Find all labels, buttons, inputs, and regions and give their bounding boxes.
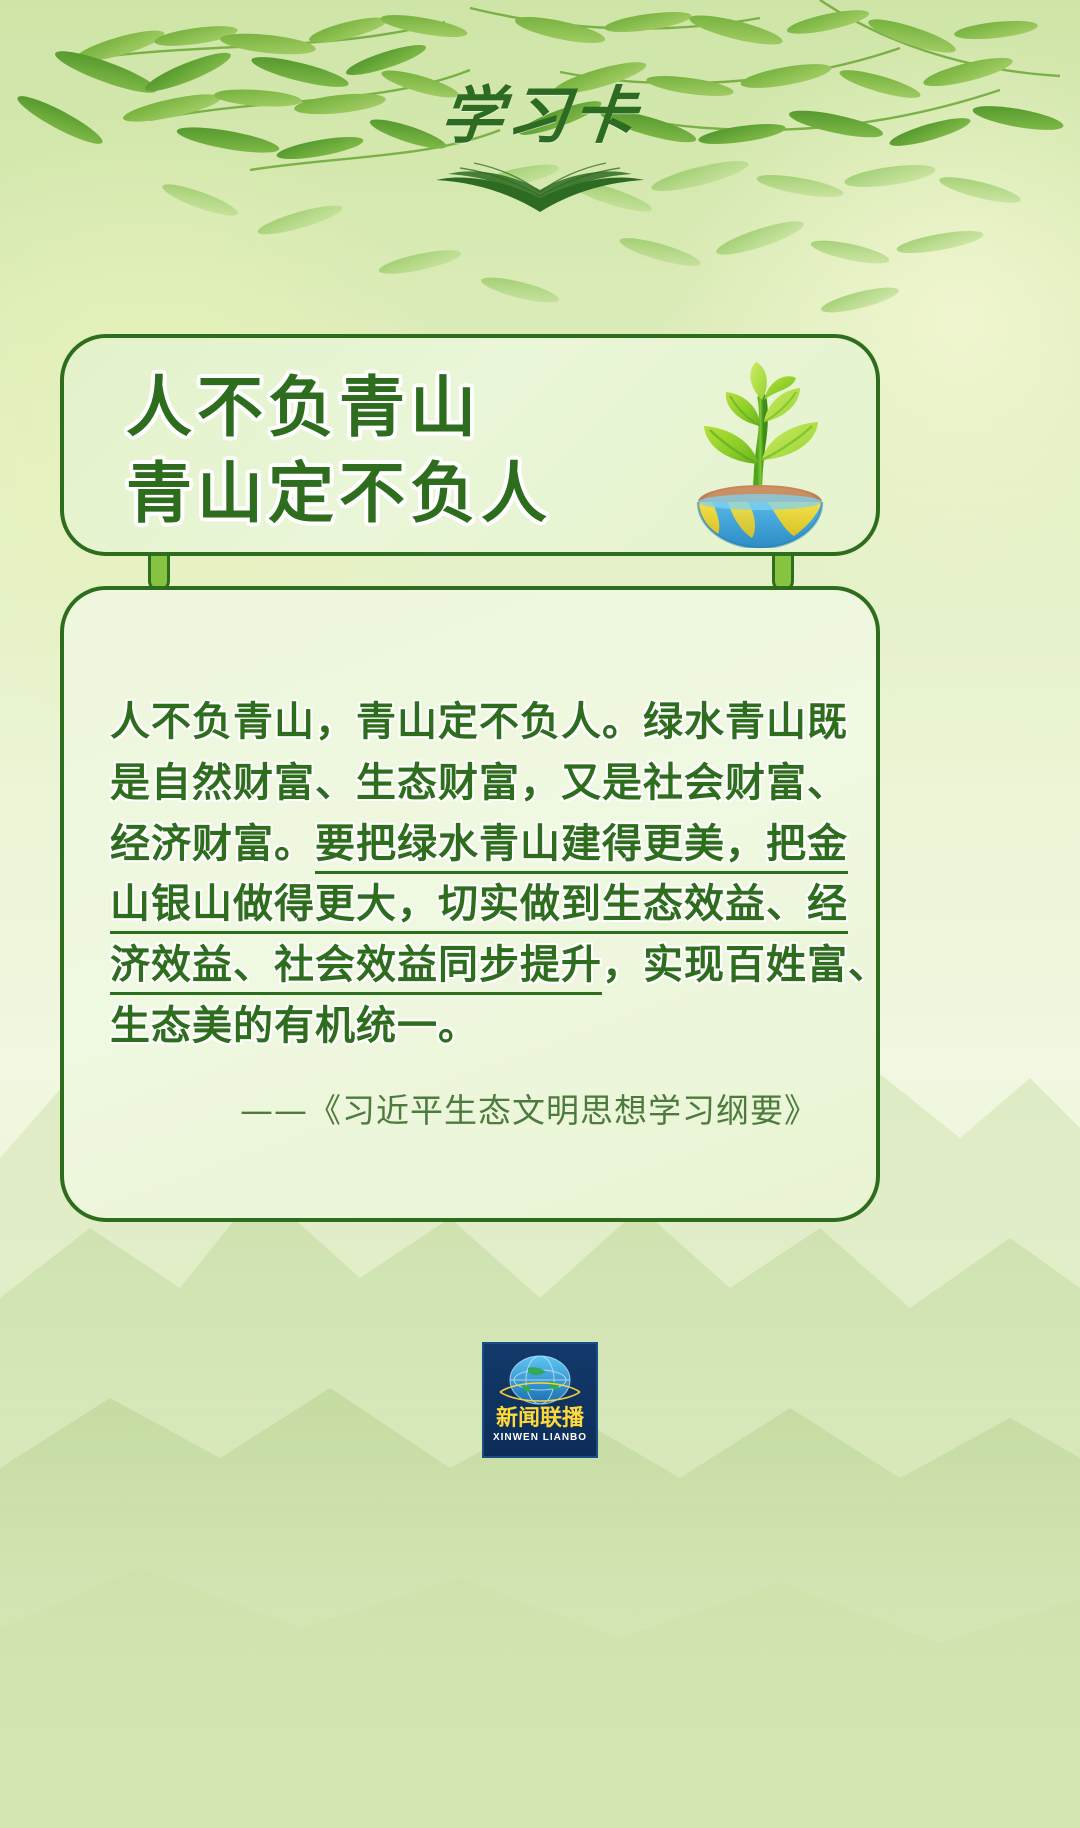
- quote-plain-text: ，实现百姓富、: [602, 942, 880, 988]
- badge-name-en: XINWEN LIANBO: [493, 1432, 587, 1443]
- title-text-block: 人不负青山 青山定不负人: [126, 366, 552, 537]
- quote-line-2: 是自然财富、生态财富，又是社会财富、: [110, 753, 840, 814]
- sapling-in-globe-pot-icon: [672, 352, 852, 548]
- quote-line-4: 山银山做得更大，切实做到生态效益、经: [110, 874, 840, 935]
- quote-attribution: ——《习近平生态文明思想学习纲要》: [64, 1084, 818, 1132]
- title-line-2: 青山定不负人: [126, 452, 552, 536]
- badge-name-cn: 新闻联播: [496, 1407, 584, 1430]
- quote-text-block: 人不负青山，青山定不负人。绿水青山既是自然财富、生态财富，又是社会财富、经济财富…: [110, 692, 840, 1057]
- quote-line-1: 人不负青山，青山定不负人。绿水青山既: [110, 692, 840, 753]
- globe-icon: [492, 1350, 588, 1406]
- quote-plain-text: 生态美的有机统一。: [110, 1003, 479, 1049]
- header-logo: 学习卡: [0, 86, 1080, 236]
- quote-plain-text: 经济财富。: [110, 821, 315, 867]
- quote-plain-text: 人不负青山，青山定不负人。绿水青山既: [110, 699, 848, 745]
- study-card-logo-text: 学习卡: [438, 86, 643, 148]
- title-card: 人不负青山 青山定不负人: [60, 334, 880, 556]
- quote-line-3: 经济财富。要把绿水青山建得更美，把金: [110, 814, 840, 875]
- title-line-1: 人不负青山: [126, 366, 552, 450]
- quote-line-5: 济效益、社会效益同步提升，实现百姓富、: [110, 935, 840, 996]
- xinwen-lianbo-badge: 新闻联播 XINWEN LIANBO: [482, 1342, 598, 1458]
- quote-line-6: 生态美的有机统一。: [110, 996, 840, 1057]
- quote-emphasis-text: 山银山做得更大，切实做到生态效益、经: [110, 881, 848, 934]
- quote-emphasis-text: 要把绿水青山建得更美，把金: [315, 821, 848, 874]
- quote-plain-text: 是自然财富、生态财富，又是社会财富、: [110, 760, 848, 806]
- quote-emphasis-text: 济效益、社会效益同步提升: [110, 942, 602, 995]
- open-book-icon: [430, 152, 650, 223]
- quote-card: 人不负青山，青山定不负人。绿水青山既是自然财富、生态财富，又是社会财富、经济财富…: [60, 586, 880, 1222]
